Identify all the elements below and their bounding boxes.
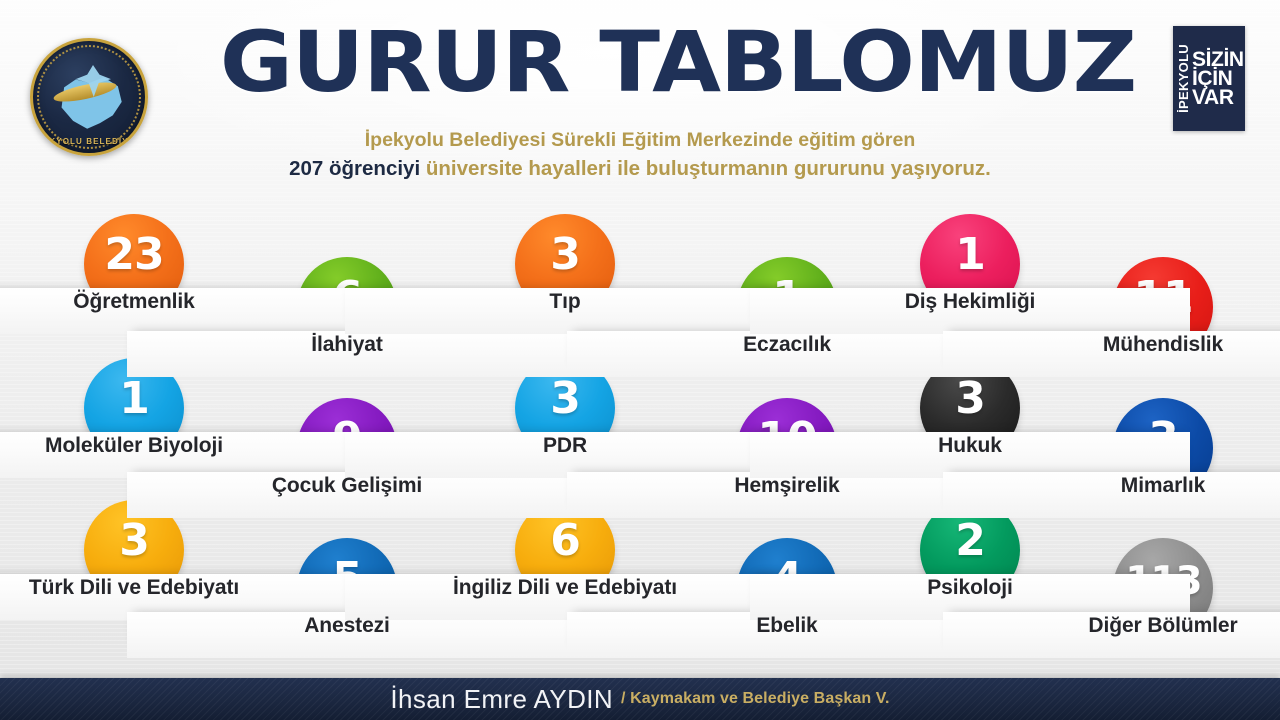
stat-bubble-value: 2 bbox=[955, 519, 985, 563]
stat-bubble-value: 1 bbox=[119, 377, 149, 421]
stat-bubble-label: Mühendislik bbox=[1103, 333, 1223, 357]
poster-footer: İhsan Emre AYDIN / Kaymakam ve Belediye … bbox=[0, 678, 1280, 720]
stat-bubble-wrap: 3Tıp bbox=[515, 214, 615, 314]
stat-bubble-item: 23Öğretmenlik bbox=[84, 214, 184, 314]
stat-bubble-value: 6 bbox=[550, 519, 580, 563]
stat-bubble-item: 1Diş Hekimliği bbox=[920, 214, 1020, 314]
stat-bubble-wrap: 23Öğretmenlik bbox=[84, 214, 184, 314]
stat-bubble-label: İlahiyat bbox=[311, 333, 383, 357]
stat-bubble-label: Diğer Bölümler bbox=[1088, 614, 1237, 638]
stat-bubble-item: 3Tıp bbox=[515, 214, 615, 314]
stat-bubble-value: 23 bbox=[104, 233, 163, 277]
stat-bubble-label: Hemşirelik bbox=[734, 474, 839, 498]
stat-bubble-label: Anestezi bbox=[304, 614, 390, 638]
stat-bubble-label: Eczacılık bbox=[743, 333, 831, 357]
stat-bubble-label: Çocuk Gelişimi bbox=[272, 474, 422, 498]
stat-bubble-label: Tıp bbox=[549, 290, 580, 314]
stat-bubble-label: Moleküler Biyoloji bbox=[45, 434, 223, 458]
footer-official-name: İhsan Emre AYDIN bbox=[390, 684, 613, 715]
stat-bubble-label: PDR bbox=[543, 434, 587, 458]
stat-bubble-value: 3 bbox=[550, 233, 580, 277]
stat-bubble-label: Mimarlık bbox=[1121, 474, 1205, 498]
stat-bubble-label: İngiliz Dili ve Edebiyatı bbox=[453, 576, 677, 600]
stat-bubble-label: Diş Hekimliği bbox=[905, 290, 1036, 314]
stat-bubble-label: Türk Dili ve Edebiyatı bbox=[29, 576, 239, 600]
footer-official-role: / Kaymakam ve Belediye Başkan V. bbox=[621, 690, 890, 708]
statistics-bubble-grid: 23Öğretmenlik6İlahiyat3Tıp1Eczacılık1Diş… bbox=[0, 0, 1280, 720]
stat-bubble-value: 3 bbox=[119, 519, 149, 563]
stat-bubble-label: Hukuk bbox=[938, 434, 1002, 458]
stat-bubble-label: Psikoloji bbox=[927, 576, 1012, 600]
stat-bubble-label: Ebelik bbox=[756, 614, 817, 638]
stat-bubble-value: 3 bbox=[955, 377, 985, 421]
stat-bubble-value: 1 bbox=[955, 233, 985, 277]
stat-bubble-wrap: 1Diş Hekimliği bbox=[920, 214, 1020, 314]
infographic-poster: İPEKYOLU BELEDİYESİ GURUR TABLOMUZ İPEKY… bbox=[0, 0, 1280, 720]
stat-bubble-value: 3 bbox=[550, 377, 580, 421]
label-band bbox=[943, 472, 1280, 518]
stat-bubble-label: Öğretmenlik bbox=[73, 290, 194, 314]
